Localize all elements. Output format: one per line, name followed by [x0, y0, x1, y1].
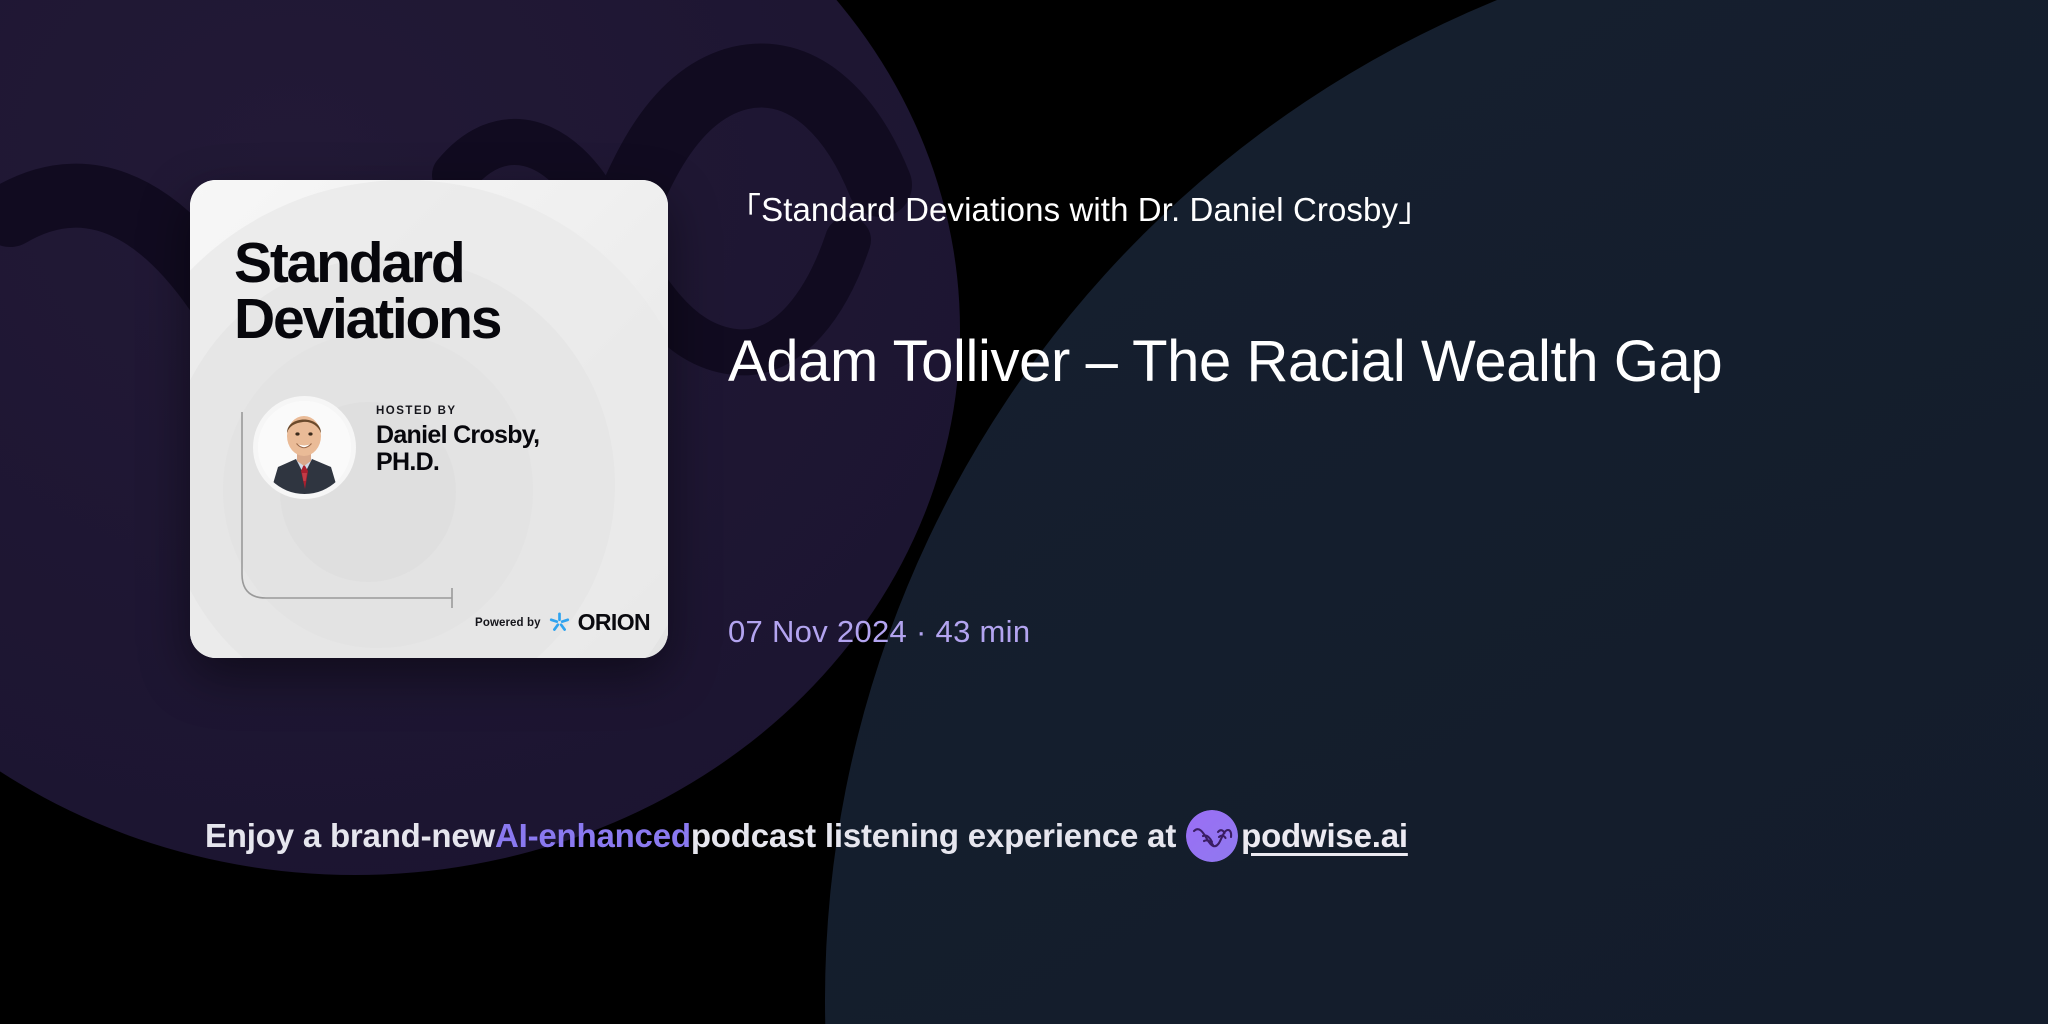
host-avatar	[258, 401, 351, 494]
hosted-by-label: HOSTED BY	[376, 405, 626, 417]
host-credit-block: HOSTED BY Daniel Crosby, PH.D.	[376, 405, 626, 476]
powered-by-label: Powered by	[475, 617, 541, 629]
tagline-part-2: podcast listening experience at	[691, 817, 1176, 855]
orion-starburst-icon	[548, 611, 571, 634]
host-name-line-1: Daniel Crosby,	[376, 422, 626, 449]
sponsor-block: Powered by ORION	[475, 611, 650, 634]
host-name-line-2: PH.D.	[376, 449, 626, 476]
cover-title-line-2: Deviations	[234, 291, 634, 347]
cover-artwork-canvas: Standard Deviations	[190, 180, 668, 658]
cover-title: Standard Deviations	[234, 235, 634, 348]
cover-title-line-1: Standard	[234, 235, 634, 291]
avatar-illustration	[258, 401, 351, 494]
episode-meta: 07 Nov 2024 · 43 min	[728, 614, 1030, 650]
episode-info-panel: 「Standard Deviations with Dr. Daniel Cro…	[728, 0, 1928, 1024]
tagline-highlight: AI-enhanced	[495, 817, 691, 855]
footer-tagline: Enjoy a brand-new AI-enhanced podcast li…	[205, 810, 1408, 862]
podwise-link[interactable]: podwise.ai	[1241, 817, 1408, 855]
sponsor-name: ORION	[578, 611, 650, 634]
episode-title: Adam Tolliver – The Racial Wealth Gap	[728, 327, 1898, 397]
tagline-part-1: Enjoy a brand-new	[205, 817, 495, 855]
podwise-wave-logo-icon[interactable]	[1186, 810, 1238, 862]
podcast-cover-art[interactable]: Standard Deviations	[190, 180, 668, 658]
podcast-name[interactable]: 「Standard Deviations with Dr. Daniel Cro…	[728, 183, 1431, 231]
